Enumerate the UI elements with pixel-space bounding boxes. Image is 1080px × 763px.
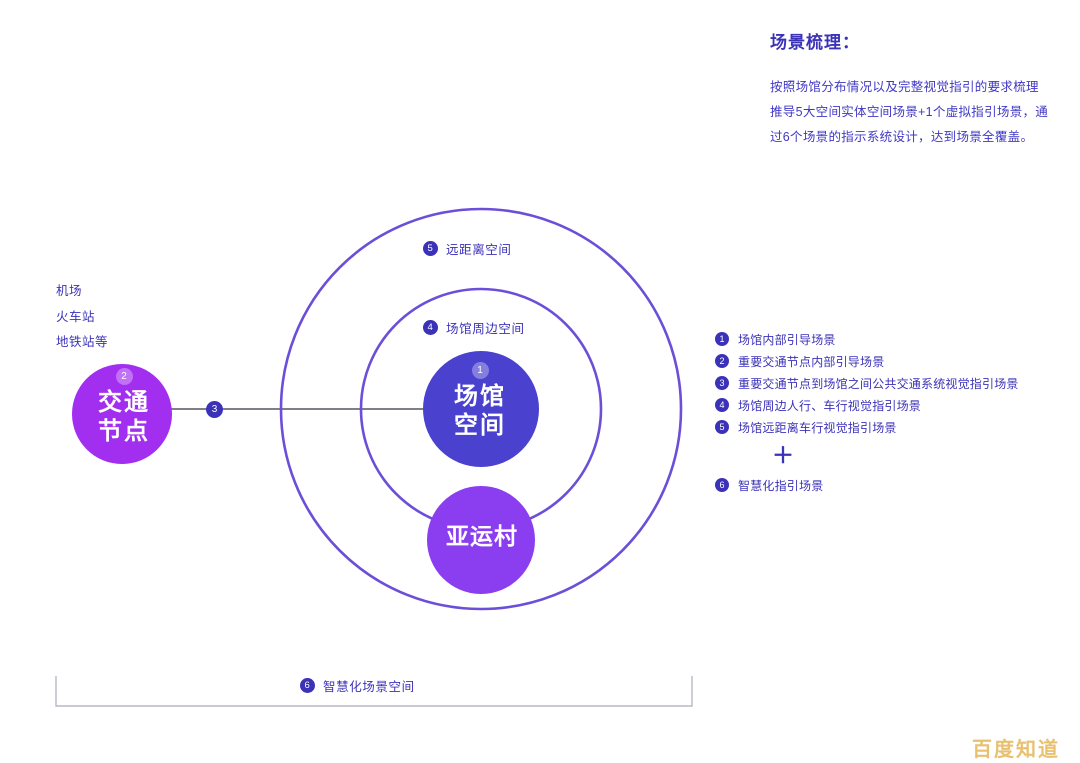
- legend-item: 1 场馆内部引导场景: [715, 328, 1060, 350]
- watermark: 百度知道: [972, 733, 1060, 762]
- header-block: 场景梳理： 按照场馆分布情况以及完整视觉指引的要求梳理推导5大空间实体空间场景+…: [770, 28, 1050, 150]
- legend-badge: 1: [715, 332, 729, 346]
- legend-item-label: 智慧化指引场景: [738, 477, 823, 494]
- legend-item-label: 重要交通节点内部引导场景: [738, 353, 884, 370]
- bracket-label-text: 智慧化场景空间: [323, 676, 415, 695]
- outer-ring-badge: 5: [423, 241, 438, 256]
- header-description: 按照场馆分布情况以及完整视觉指引的要求梳理推导5大空间实体空间场景+1个虚拟指引…: [770, 75, 1050, 150]
- hub-label-train-station: 火车站: [56, 305, 108, 331]
- connector-badge: 3: [206, 401, 223, 418]
- scene-diagram: 机场 火车站 地铁站等 1 场馆 空间 2 交通 节点 亚运村 3 5 远距离空…: [0, 0, 720, 763]
- legend-item-label: 场馆周边人行、车行视觉指引场景: [738, 397, 921, 414]
- legend-item: 2 重要交通节点内部引导场景: [715, 350, 1060, 372]
- legend-item-label: 重要交通节点到场馆之间公共交通系统视觉指引场景: [738, 375, 1019, 392]
- legend-item: 3 重要交通节点到场馆之间公共交通系统视觉指引场景: [715, 372, 1060, 394]
- legend-badge: 3: [715, 376, 729, 390]
- hub-type-labels: 机场 火车站 地铁站等: [56, 279, 108, 356]
- village-circle: [427, 486, 535, 594]
- legend-item-label: 场馆远距离车行视觉指引场景: [738, 419, 897, 436]
- legend-badge: 4: [715, 398, 729, 412]
- legend-badge: 5: [715, 420, 729, 434]
- outer-ring-label-text: 远距离空间: [446, 239, 512, 258]
- outer-ring-label: 5 远距离空间: [423, 239, 512, 258]
- plus-icon: ＋: [772, 445, 1060, 467]
- venue-circle: [423, 351, 539, 467]
- page-title: 场景梳理：: [770, 28, 1050, 53]
- inner-ring-badge: 4: [423, 320, 438, 335]
- hub-label-metro-station: 地铁站等: [56, 330, 108, 356]
- legend-item: 5 场馆远距离车行视觉指引场景: [715, 416, 1060, 438]
- bracket-label: 6 智慧化场景空间: [300, 676, 415, 695]
- diagram-svg: [0, 0, 720, 763]
- bracket-badge: 6: [300, 678, 315, 693]
- legend-badge: 2: [715, 354, 729, 368]
- legend-item: 4 场馆周边人行、车行视觉指引场景: [715, 394, 1060, 416]
- inner-ring-label: 4 场馆周边空间: [423, 318, 525, 337]
- inner-ring-label-text: 场馆周边空间: [446, 318, 525, 337]
- hub-circle: [72, 364, 172, 464]
- legend-badge: 6: [715, 478, 729, 492]
- legend-item-label: 场馆内部引导场景: [738, 331, 836, 348]
- legend-item-extra: 6 智慧化指引场景: [715, 474, 1060, 496]
- legend: 1 场馆内部引导场景 2 重要交通节点内部引导场景 3 重要交通节点到场馆之间公…: [715, 328, 1060, 496]
- hub-label-airport: 机场: [56, 279, 108, 305]
